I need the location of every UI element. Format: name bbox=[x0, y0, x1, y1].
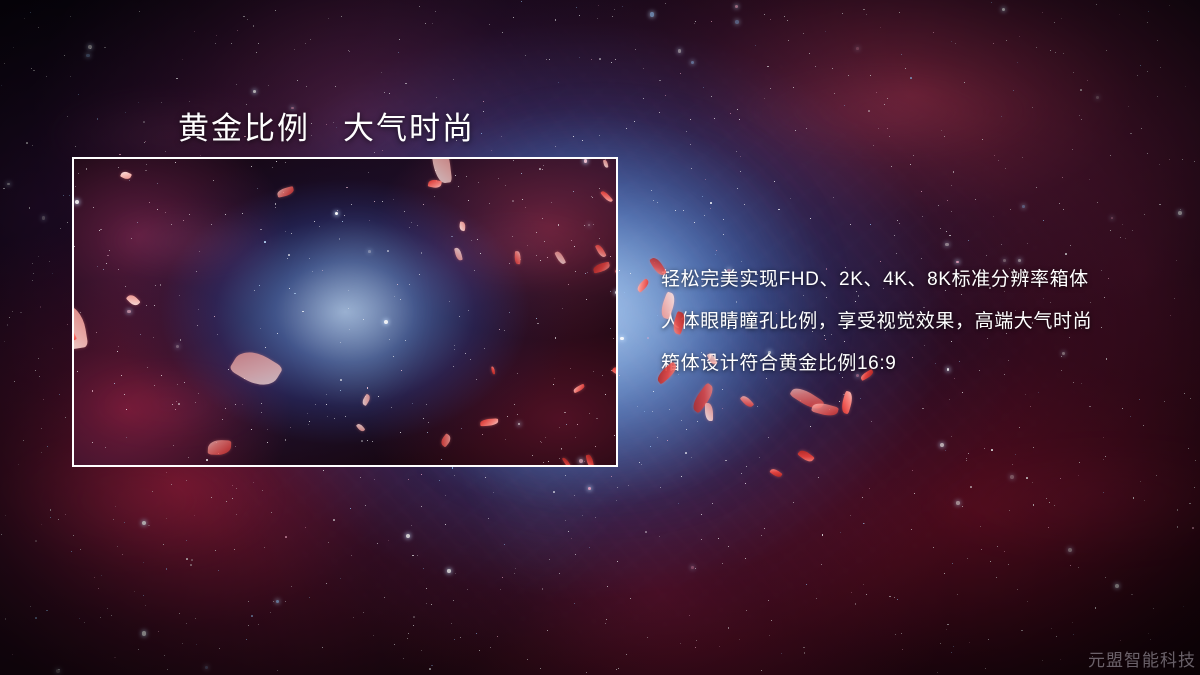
body-line-1: 轻松完美实现FHD、2K、4K、8K标准分辨率箱体 bbox=[661, 259, 1181, 301]
presentation-slide: 黄金比例 大气时尚 轻松完美实现FHD、2K、4K、8K标准分辨率箱体 人体眼睛… bbox=[0, 0, 1200, 675]
body-line-3: 箱体设计符合黄金比例16:9 bbox=[661, 343, 1181, 385]
page-title: 黄金比例 大气时尚 bbox=[178, 103, 475, 148]
body-line-2: 人体眼睛瞳孔比例，享受视觉效果，高端大气时尚 bbox=[661, 301, 1181, 343]
panel-wisp-layer bbox=[72, 157, 618, 467]
body-text-block: 轻松完美实现FHD、2K、4K、8K标准分辨率箱体 人体眼睛瞳孔比例，享受视觉效… bbox=[661, 259, 1181, 385]
petal bbox=[396, 466, 410, 467]
framed-image-panel bbox=[72, 157, 618, 467]
watermark-label: 元盟智能科技 bbox=[1088, 646, 1196, 671]
